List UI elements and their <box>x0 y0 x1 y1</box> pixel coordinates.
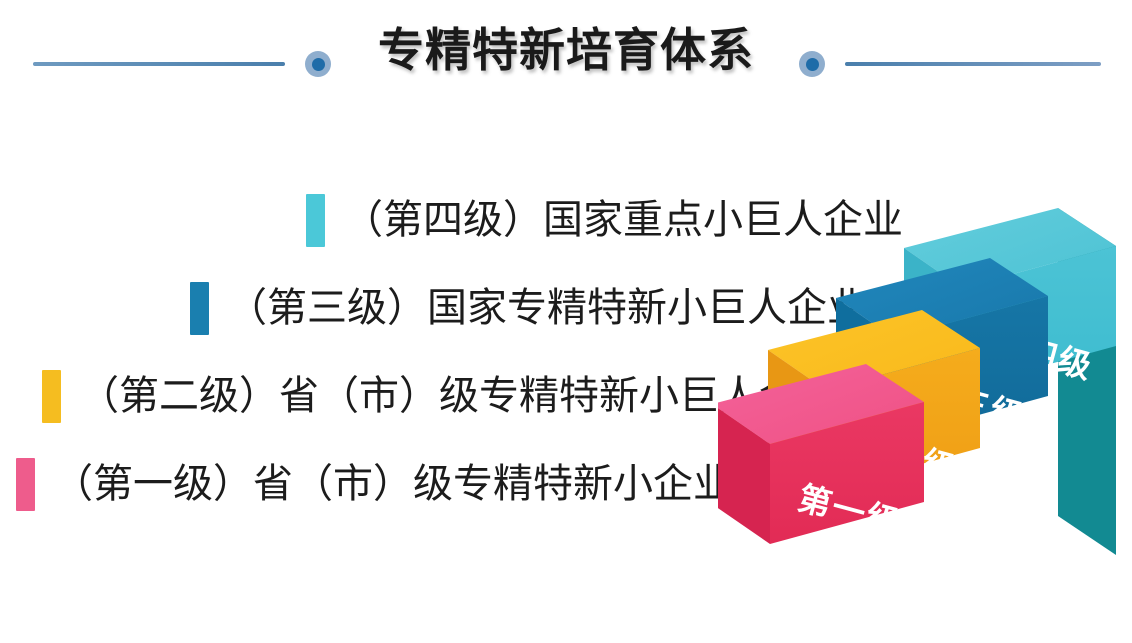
level-row-1: （第一级）省（市）级专精特新小企业 <box>16 452 733 516</box>
decorative-dot-right <box>799 51 825 77</box>
level-color-bar-2 <box>42 370 61 423</box>
step-1-group: 第一级 <box>718 364 924 544</box>
header: 专精特新培育体系 <box>0 0 1132 120</box>
page-title: 专精特新培育体系 <box>0 23 1132 77</box>
level-color-bar-1 <box>16 458 35 511</box>
infographic-canvas: 专精特新培育体系 （第四级）国家重点小巨人企业 （第三级）国家专精特新小巨人企业… <box>0 0 1132 643</box>
staircase-3d-chart: 第四级 第三级 第二级 第一级 <box>718 160 1132 610</box>
decorative-rule-right <box>845 62 1101 66</box>
level-color-bar-3 <box>190 282 209 335</box>
level-label-1: （第一级）省（市）级专精特新小企业 <box>53 459 733 509</box>
level-color-bar-4 <box>306 194 325 247</box>
